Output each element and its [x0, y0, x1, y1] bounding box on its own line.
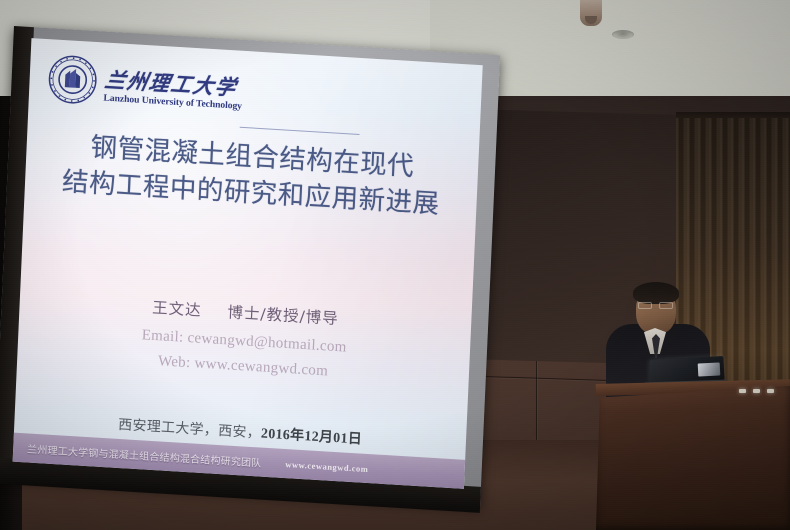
podium — [596, 386, 790, 530]
band-url: www.cewangwd.com — [285, 459, 368, 474]
author-name: 王文达 — [152, 299, 202, 320]
footer-venue: 西安理工大学，西安， — [118, 418, 261, 442]
university-seal-icon — [47, 53, 99, 106]
ceiling-speaker-icon — [580, 0, 602, 26]
footer-date: 2016年12月01日 — [261, 427, 363, 448]
presenter-hair — [633, 282, 679, 304]
podium-indicator-lights — [739, 389, 774, 393]
glasses-icon — [637, 302, 675, 309]
title-divider-rule — [240, 127, 360, 135]
slide-title: 钢管混凝土组合结构在现代 结构工程中的研究和应用新进展 — [24, 126, 478, 225]
projection-screen: 兰州理工大学 Lanzhou University of Technology … — [0, 26, 513, 516]
author-spacer — [207, 316, 221, 317]
ceiling-downlight-icon — [612, 30, 634, 39]
laptop-screen-glow — [698, 362, 721, 376]
university-logo: 兰州理工大学 Lanzhou University of Technology — [47, 53, 243, 115]
presentation-slide: 兰州理工大学 Lanzhou University of Technology … — [13, 38, 483, 489]
photo-scene: 兰州理工大学 Lanzhou University of Technology … — [0, 0, 790, 530]
author-titles: 博士/教授/博导 — [227, 303, 339, 328]
